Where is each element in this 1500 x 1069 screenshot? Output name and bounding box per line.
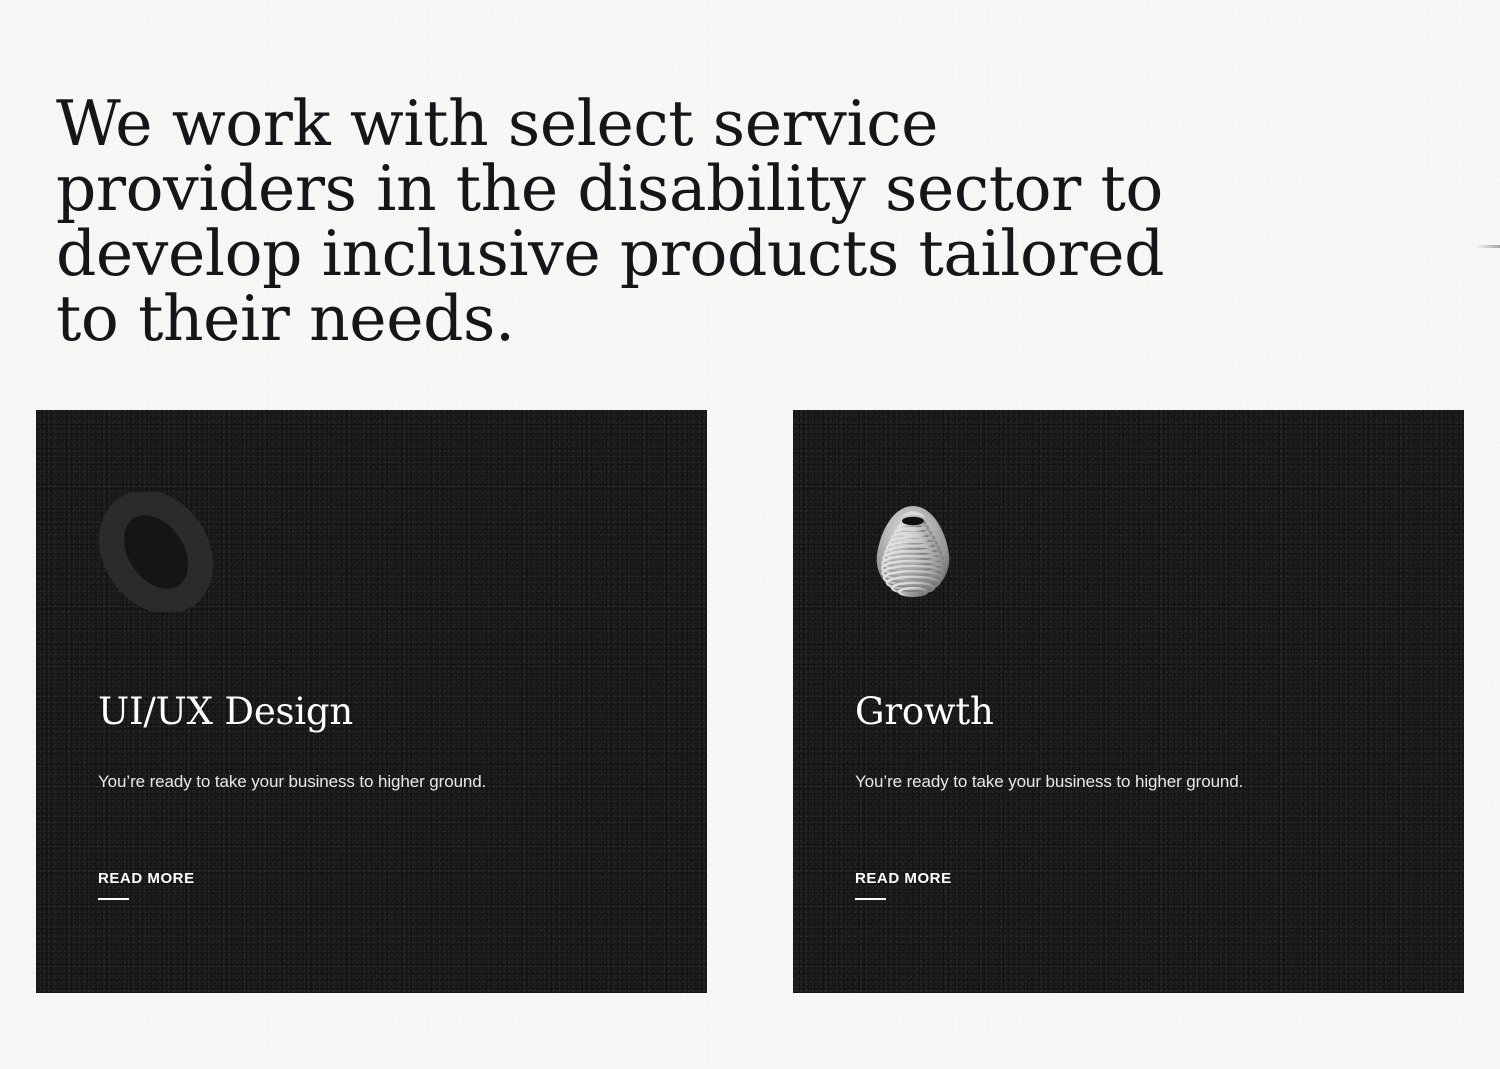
spiral-cone-shell-icon [853,492,973,612]
card-title: UI/UX Design [98,693,353,730]
card-description: You’re ready to take your business to hi… [98,770,486,794]
section-heading: We work with select service providers in… [56,92,1236,352]
service-card-growth[interactable]: Growth You’re ready to take your busines… [793,410,1464,993]
read-more-link[interactable]: READ MORE [855,870,952,900]
service-card-ui-ux-design[interactable]: UI/UX Design You’re ready to take your b… [36,410,707,993]
service-cards-grid: UI/UX Design You’re ready to take your b… [36,410,1464,993]
read-more-link[interactable]: READ MORE [98,870,195,900]
read-more-label: READ MORE [855,870,952,887]
read-more-underline [98,898,129,900]
card-title: Growth [855,693,994,730]
read-more-underline [855,898,886,900]
right-edge-artifact [1476,245,1500,248]
striped-torus-icon [96,492,216,612]
card-description: You’re ready to take your business to hi… [855,770,1243,794]
read-more-label: READ MORE [98,870,195,887]
